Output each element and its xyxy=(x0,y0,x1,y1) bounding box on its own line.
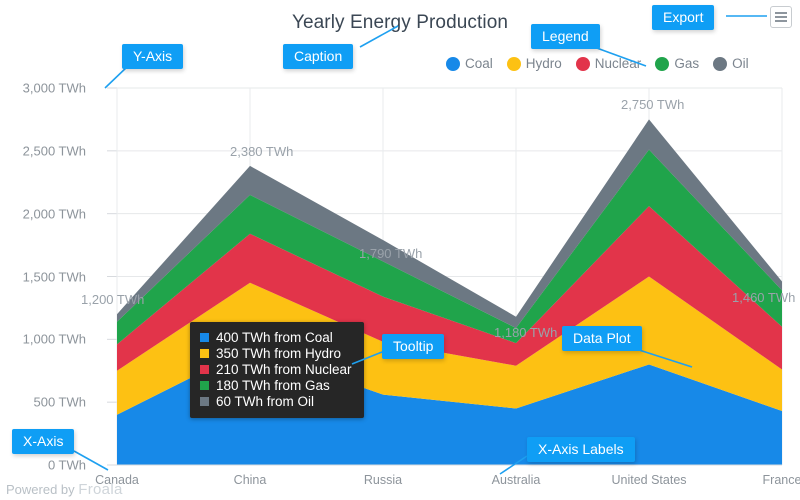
tooltip-swatch-icon xyxy=(200,349,209,358)
y-axis-tick-label: 2,500 TWh xyxy=(0,143,86,158)
data-point-label: 1,180 TWh xyxy=(494,325,557,340)
data-point-label: 1,200 TWh xyxy=(81,292,144,307)
tooltip-text: 400 TWh from Coal xyxy=(216,330,333,345)
footer-credit: Powered by Froala xyxy=(6,481,123,498)
x-axis-tick-label: China xyxy=(234,473,267,487)
x-axis-tick-label: United States xyxy=(611,473,686,487)
data-point-label: 2,380 TWh xyxy=(230,144,293,159)
data-point-label: 1,460 TWh xyxy=(732,290,795,305)
x-axis-tick-label: France xyxy=(763,473,800,487)
tooltip-text: 60 TWh from Oil xyxy=(216,394,314,409)
y-axis-tick-label: 500 TWh xyxy=(0,395,86,410)
tooltip-row: 60 TWh from Oil xyxy=(200,394,352,409)
callout-tooltip: Tooltip xyxy=(382,334,444,359)
y-axis-tick-label: 2,000 TWh xyxy=(0,206,86,221)
tooltip-row: 180 TWh from Gas xyxy=(200,378,352,393)
callout-export: Export xyxy=(652,5,714,30)
y-axis-tick-label: 1,000 TWh xyxy=(0,332,86,347)
callout-data-plot: Data Plot xyxy=(562,326,642,351)
x-axis-tick-label: Australia xyxy=(492,473,541,487)
footer-prefix: Powered by xyxy=(6,482,75,497)
tooltip-swatch-icon xyxy=(200,333,209,342)
data-point-label: 1,790 TWh xyxy=(359,246,422,261)
tooltip-text: 210 TWh from Nuclear xyxy=(216,362,352,377)
tooltip-text: 350 TWh from Hydro xyxy=(216,346,341,361)
footer-brand: Froala xyxy=(78,481,122,498)
data-point-label: 2,750 TWh xyxy=(621,97,684,112)
callout-x-axis: X-Axis xyxy=(12,429,74,454)
y-axis-tick-label: 3,000 TWh xyxy=(0,81,86,96)
data-plot[interactable]: 0 TWh500 TWh1,000 TWh1,500 TWh2,000 TWh2… xyxy=(0,0,800,500)
tooltip: 400 TWh from Coal350 TWh from Hydro210 T… xyxy=(190,322,364,418)
callout-y-axis: Y-Axis xyxy=(122,44,183,69)
callout-legend: Legend xyxy=(531,24,600,49)
tooltip-text: 180 TWh from Gas xyxy=(216,378,330,393)
tooltip-swatch-icon xyxy=(200,397,209,406)
callout-caption: Caption xyxy=(283,44,353,69)
tooltip-swatch-icon xyxy=(200,381,209,390)
tooltip-row: 350 TWh from Hydro xyxy=(200,346,352,361)
x-axis-tick-label: Russia xyxy=(364,473,402,487)
y-axis-tick-label: 1,500 TWh xyxy=(0,269,86,284)
tooltip-row: 210 TWh from Nuclear xyxy=(200,362,352,377)
tooltip-row: 400 TWh from Coal xyxy=(200,330,352,345)
tooltip-swatch-icon xyxy=(200,365,209,374)
y-axis-tick-label: 0 TWh xyxy=(0,458,86,473)
callout-x-axis-labels: X-Axis Labels xyxy=(527,437,635,462)
chart-page: Yearly Energy Production CoalHydroNuclea… xyxy=(0,0,800,500)
